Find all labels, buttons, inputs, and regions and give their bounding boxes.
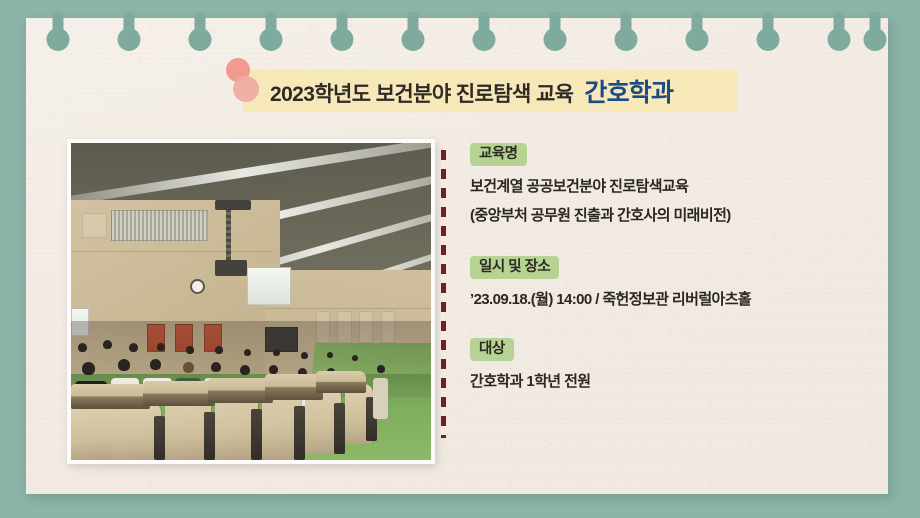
photo-seat-armrest (154, 416, 165, 460)
info-line-target-1: 간호학과 1학년 전원 (470, 372, 870, 391)
photo-standing-person-head (377, 365, 385, 373)
photo-audience-head (273, 349, 280, 356)
photo-projector-rod (226, 206, 231, 263)
photo-audience-head (244, 349, 251, 356)
info-block-target: 대상 간호학과 1학년 전원 (470, 338, 870, 391)
photo-seat-row (208, 378, 273, 403)
photo-wall-panel (82, 213, 107, 238)
info-badge-program: 교육명 (470, 143, 527, 166)
binder-ring-row (26, 12, 888, 60)
photo-seat-armrest (251, 409, 262, 460)
photo-audience-head (211, 362, 221, 372)
title-banner: 2023학년도 보건분야 진로탐색 교육 간호학과 (243, 70, 737, 112)
photo-seat-armrest (334, 403, 345, 454)
info-line-datetime-1: ’23.09.18.(월) 14:00 / 죽헌정보관 리버럴아츠홀 (470, 290, 870, 309)
info-block-datetime: 일시 및 장소 ’23.09.18.(월) 14:00 / 죽헌정보관 리버럴아… (470, 256, 870, 309)
photo-audience-head (118, 359, 130, 371)
photo-audience-head (103, 340, 112, 349)
info-badge-target: 대상 (470, 338, 514, 361)
photo-standing-person-body (373, 378, 387, 419)
photo-projector (215, 200, 251, 210)
photo-audience-head (186, 346, 194, 354)
photo-seat-armrest (204, 412, 215, 460)
photo-seat-row (71, 384, 150, 409)
pushpin-shadow (233, 76, 259, 102)
info-line-program-1: 보건계열 공공보건분야 진로탐색교육 (470, 177, 870, 196)
page-title: 2023학년도 보건분야 진로탐색 교육 (270, 78, 573, 108)
photo-window (247, 267, 290, 305)
photo-audience-head (129, 343, 138, 352)
photo-projector-body (215, 260, 247, 276)
info-column: 교육명 보건계열 공공보건분야 진로탐색교육 (중앙부처 공무원 진출과 간호사… (470, 143, 870, 391)
department-title: 간호학과 (584, 73, 673, 109)
photo-clock-icon (190, 279, 205, 294)
photo-audience-head (150, 359, 161, 370)
photo-balcony-grille (111, 210, 208, 242)
photo-audience-head (78, 343, 87, 352)
info-line-program-2: (중앙부처 공무원 진출과 간호사의 미래비전) (470, 206, 870, 225)
photo-audience-head (183, 362, 194, 373)
photo-seat-row (265, 374, 323, 399)
photo-audience-head (269, 365, 278, 374)
pushpin-icon (222, 58, 266, 112)
photo-audience-head (215, 346, 223, 354)
poster-canvas: 2023학년도 보건분야 진로탐색 교육 간호학과 (0, 0, 920, 518)
photo-audience-head (240, 365, 250, 375)
photo-wall-seam (265, 308, 431, 309)
photo-wall-seam (71, 251, 273, 252)
event-photo (71, 143, 431, 460)
event-photo-frame (67, 139, 435, 464)
dashed-divider (441, 150, 446, 438)
info-block-program: 교육명 보건계열 공공보건분야 진로탐색교육 (중앙부처 공무원 진출과 간호사… (470, 143, 870, 226)
photo-audience-head (82, 362, 95, 375)
photo-audience-head (327, 352, 333, 358)
photo-seat-row (143, 381, 215, 406)
photo-audience-head (352, 355, 358, 361)
photo-seat-row (316, 371, 366, 393)
photo-seat-armrest (294, 406, 305, 460)
info-badge-datetime: 일시 및 장소 (470, 256, 559, 279)
title-text-group: 2023학년도 보건분야 진로탐색 교육 간호학과 (243, 73, 673, 109)
photo-audience-head (157, 343, 165, 351)
